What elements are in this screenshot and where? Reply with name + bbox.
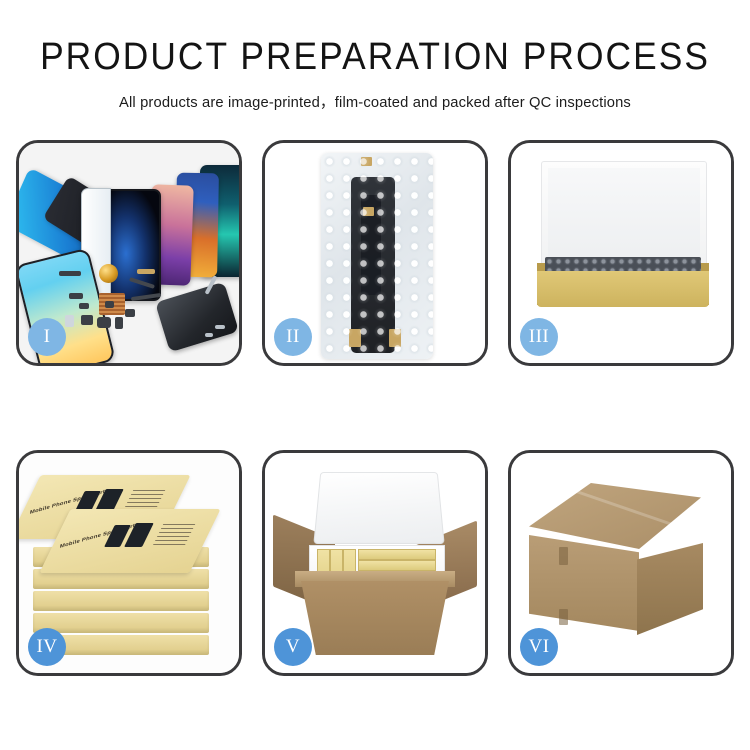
gold-coil-part <box>99 264 118 283</box>
stacked-box <box>33 591 209 611</box>
spare-part <box>137 269 155 274</box>
process-step-grid: I II II <box>16 140 734 676</box>
top-box-front: Mobile Phone Spare Parts <box>39 509 220 573</box>
spare-part <box>65 315 74 327</box>
step-badge-3: III <box>520 318 558 356</box>
phone-back-housing <box>155 282 239 353</box>
spare-part <box>59 271 81 276</box>
box-spec-lines <box>153 523 196 545</box>
tape-piece <box>349 329 361 347</box>
tape-piece <box>389 329 401 347</box>
step-card-2[interactable]: II <box>262 140 488 366</box>
step-badge-2: II <box>274 318 312 356</box>
spare-part <box>125 309 135 317</box>
step-3-illustration: III <box>511 143 731 363</box>
spare-part <box>81 315 93 325</box>
kraft-box-front <box>537 271 709 307</box>
step-badge-6: VI <box>520 628 558 666</box>
yellow-box <box>358 549 436 560</box>
step-card-1[interactable]: I <box>16 140 242 366</box>
page-subtitle: All products are image-printed，film-coat… <box>11 90 739 112</box>
stacked-box <box>33 613 209 633</box>
product-preparation-infographic: PRODUCT PREPARATION PROCESS All products… <box>0 0 750 750</box>
step-4-illustration: Mobile Phone Spare Parts Mobile Phone Sp… <box>19 453 239 673</box>
carton-tape <box>559 609 568 625</box>
screw-part <box>215 325 225 329</box>
step-card-6[interactable]: VI <box>508 450 734 676</box>
step-1-illustration: I <box>19 143 239 363</box>
step-badge-1: I <box>28 318 66 356</box>
spare-part <box>79 303 89 309</box>
yellow-box <box>358 560 436 571</box>
spare-part <box>115 317 123 329</box>
step-2-illustration: II <box>265 143 485 363</box>
carton-side-face <box>637 543 703 635</box>
carton-body <box>301 581 449 655</box>
carton-tape <box>559 547 568 565</box>
foam-lid-open <box>313 472 444 544</box>
step-badge-5: V <box>274 628 312 666</box>
spare-part <box>69 293 83 299</box>
step-6-illustration: VI <box>511 453 731 673</box>
header: PRODUCT PREPARATION PROCESS All products… <box>0 0 750 112</box>
step-5-illustration: V <box>265 453 485 673</box>
step-badge-4: IV <box>28 628 66 666</box>
tape-piece <box>363 207 374 216</box>
spare-part <box>97 317 111 328</box>
step-card-5[interactable]: V <box>262 450 488 676</box>
spare-part <box>105 301 114 308</box>
page-title: PRODUCT PREPARATION PROCESS <box>26 38 724 76</box>
tape-piece <box>361 157 372 166</box>
carton-front-face <box>529 535 639 631</box>
step-card-4[interactable]: Mobile Phone Spare Parts Mobile Phone Sp… <box>16 450 242 676</box>
box-spec-lines <box>123 489 166 511</box>
screw-part <box>205 333 213 337</box>
step-card-3[interactable]: III <box>508 140 734 366</box>
